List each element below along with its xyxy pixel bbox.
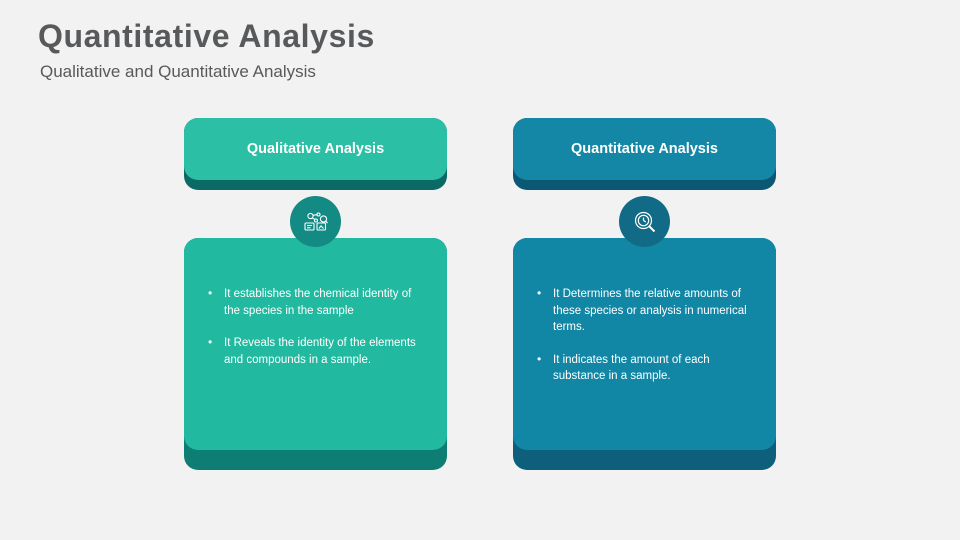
list-item: It indicates the amount of each substanc… (537, 352, 752, 385)
card-body: It Determines the relative amounts of th… (513, 238, 776, 450)
card-header-label: Quantitative Analysis (571, 141, 718, 157)
card-qualitative[interactable]: Qualitative Analysis It establishes the … (184, 118, 447, 470)
card-header-label: Qualitative Analysis (247, 141, 384, 157)
list-item: It establishes the chemical identity of … (208, 286, 423, 319)
card-quantitative[interactable]: Quantitative Analysis It Determines the … (513, 118, 776, 470)
card-header: Qualitative Analysis (184, 118, 447, 180)
slide: Quantitative Analysis Qualitative and Qu… (0, 0, 960, 540)
page-subtitle: Qualitative and Quantitative Analysis (40, 62, 316, 82)
list-item: It Reveals the identity of the elements … (208, 335, 423, 368)
card-bullet-list: It Determines the relative amounts of th… (513, 238, 776, 385)
card-icon-badge (619, 196, 670, 247)
card-body: It establishes the chemical identity of … (184, 238, 447, 450)
magnifier-clock-icon (631, 208, 659, 236)
molecule-analysis-icon (302, 208, 330, 236)
card-bullet-list: It establishes the chemical identity of … (184, 238, 447, 368)
page-title: Quantitative Analysis (38, 18, 375, 55)
card-header: Quantitative Analysis (513, 118, 776, 180)
card-icon-badge (290, 196, 341, 247)
list-item: It Determines the relative amounts of th… (537, 286, 752, 336)
